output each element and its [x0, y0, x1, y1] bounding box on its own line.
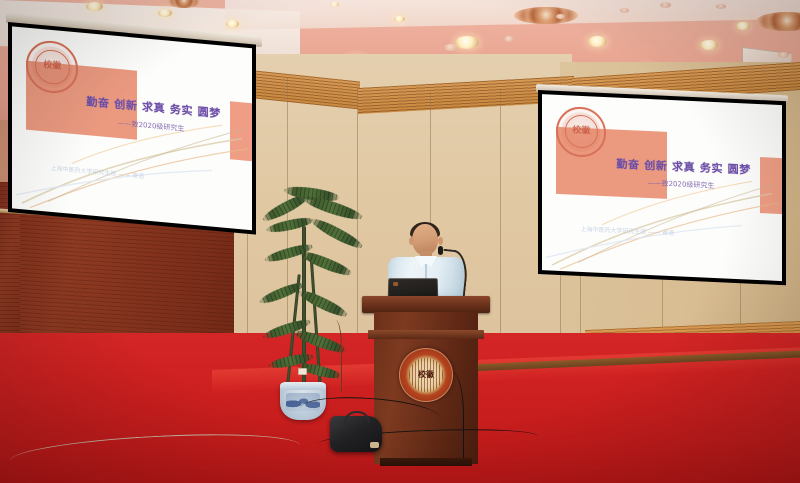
downlight — [716, 4, 726, 9]
left-slide-surface: 校徽 勤奋 创新 求真 务实 圆梦 ——致2020级研究生 上海中医药大学研究生… — [12, 26, 252, 230]
palm-frond — [298, 248, 354, 279]
downlight — [158, 9, 172, 17]
speaker-ear — [438, 237, 443, 245]
downlight — [700, 40, 718, 50]
downlight — [226, 20, 239, 28]
palm-frond — [309, 215, 365, 252]
podium-shelf — [368, 330, 484, 339]
downlight — [778, 52, 789, 58]
downlight — [455, 36, 479, 49]
downlight — [620, 8, 629, 13]
ceiling-ring-light — [514, 7, 578, 24]
podium-base — [380, 458, 472, 466]
podium-top-surface — [362, 296, 490, 313]
downlight — [330, 2, 339, 7]
left-projection-screen[interactable]: 校徽 勤奋 创新 求真 务实 圆梦 ——致2020级研究生 上海中医药大学研究生… — [8, 22, 256, 235]
university-seal-label: 校徽 — [43, 62, 61, 73]
podium-emblem-label: 校徽 — [418, 371, 434, 379]
downlight — [736, 22, 750, 30]
wall-socket[interactable] — [298, 368, 307, 375]
pot-rim — [280, 382, 326, 390]
downlight — [504, 36, 514, 42]
downlight — [660, 2, 671, 8]
right-slide-surface: 校徽 勤奋 创新 求真 务实 圆梦 ——致2020级研究生 上海中医药大学研究生… — [542, 94, 782, 281]
university-seal-icon: 校徽 — [556, 105, 606, 157]
downlight — [394, 16, 405, 22]
wall-cable — [326, 320, 342, 392]
equipment-bag[interactable] — [330, 416, 382, 452]
downlight — [588, 36, 607, 47]
podium-cable — [440, 372, 464, 458]
microphone-head-icon — [438, 246, 443, 255]
downlight — [86, 2, 103, 11]
laptop-logo-icon — [393, 282, 398, 286]
university-seal-label: 校徽 — [572, 127, 590, 137]
conference-hall-photo: 校徽 勤奋 创新 求真 务实 圆梦 ——致2020级研究生 上海中医药大学研究生… — [0, 0, 800, 483]
bag-tag — [370, 442, 379, 448]
speaker-ear — [409, 237, 414, 245]
right-projection-screen[interactable]: 校徽 勤奋 创新 求真 务实 圆梦 ——致2020级研究生 上海中医药大学研究生… — [538, 90, 786, 285]
downlight — [556, 14, 565, 19]
